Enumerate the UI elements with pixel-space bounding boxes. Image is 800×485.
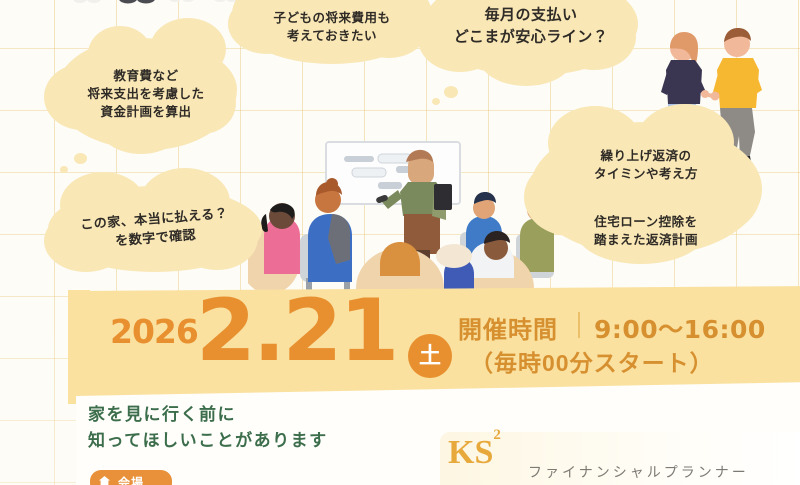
bubble-text-spacer	[530, 184, 762, 195]
venue-badge: 会場	[90, 470, 172, 485]
bubble-can-we-afford: この家、本当に払える？ を数字で確認	[48, 186, 262, 272]
brand-logo-subtitle: ファイナンシャルプランナー	[528, 462, 749, 482]
seminar-audience-illustration	[248, 138, 554, 300]
bubble-prepayment-text-2: 住宅ローン控除を 踏まえた返済計画	[594, 215, 698, 247]
bubble-education-cost: 教育費など 将来支出を考慮した 資金計画を算出	[55, 38, 237, 150]
bubble-can-we-afford-text: この家、本当に払える？ を数字で確認	[47, 202, 263, 256]
event-date: 2.21	[196, 288, 396, 374]
bubble-monthly-payment-text: 毎月の支払い どこまが安心ライン？	[424, 4, 638, 48]
venue-badge-label: 会場	[90, 474, 172, 485]
brand-logo-text: KS2	[448, 434, 501, 472]
brand-logo-main: KS	[448, 434, 493, 471]
bubble-tail-dot	[444, 86, 458, 98]
family-walking-illustration	[62, 0, 242, 4]
brand-logo-superscript: 2	[493, 427, 501, 443]
time-divider	[578, 312, 580, 338]
event-year: 2026	[110, 312, 198, 351]
poster-canvas: 教育費など 将来支出を考慮した 資金計画を算出 子どもの将来費用も 考えておきた…	[0, 0, 800, 485]
bubble-tail-dot	[60, 166, 68, 173]
bubble-prepayment: 繰り上げ返済の タイミンや考え方 住宅ローン控除を 踏まえた返済計画	[530, 122, 762, 256]
bubble-prepayment-text-1: 繰り上げ返済の タイミンや考え方	[594, 149, 698, 181]
bubble-education-cost-text: 教育費など 将来支出を考慮した 資金計画を算出	[55, 67, 237, 121]
bubble-tail-dot	[432, 98, 440, 105]
event-time-value: 9:00〜16:00	[594, 310, 766, 346]
lead-message: 家を見に行く前に 知ってほしいことがあります	[88, 402, 328, 455]
bubble-child-future-cost-text: 子どもの将来費用も 考えておきたい	[232, 9, 432, 45]
bubble-tail-dot	[74, 153, 87, 164]
event-time-note: （毎時00分スタート）	[470, 344, 714, 378]
event-day-of-week-badge: 土	[408, 334, 452, 378]
event-time-label: 開催時間	[458, 310, 558, 345]
